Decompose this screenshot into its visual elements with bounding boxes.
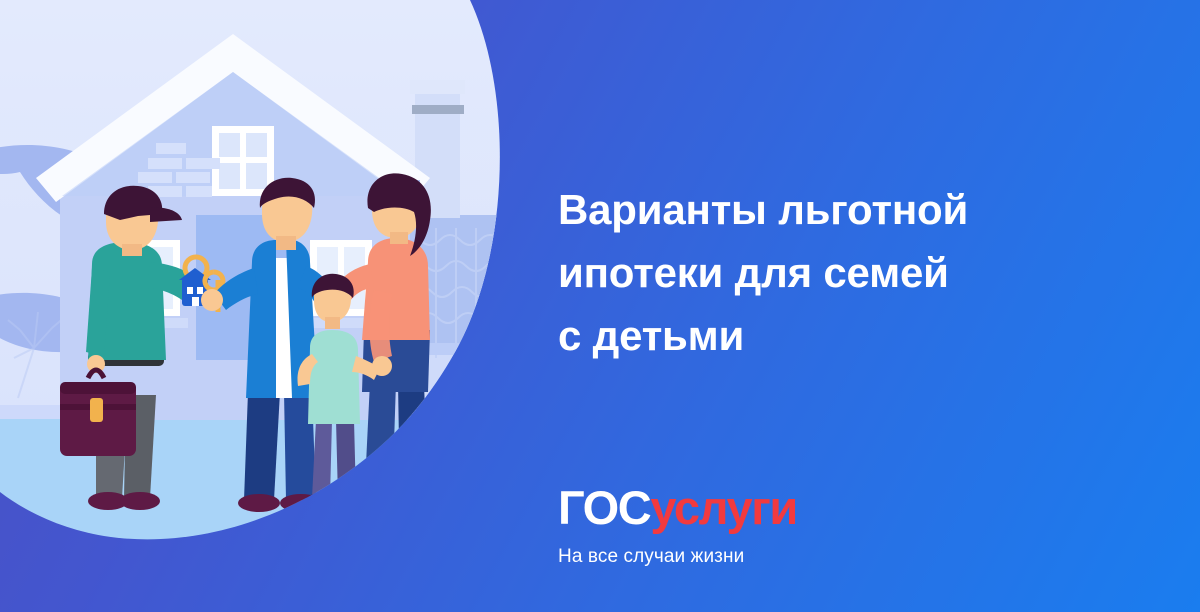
shoe [120,492,160,510]
briefcase-icon [60,370,136,456]
headline-line-3: с детьми [558,304,1078,367]
gosuslugi-logo: ГОСуслуги На все случаи жизни [558,483,1038,569]
logo-wordmark: ГОСуслуги [558,483,1038,533]
shoe [305,493,337,509]
hand [201,289,223,311]
shoe [238,494,280,512]
headline-line-2: ипотеки для семей [558,241,1078,304]
briefcase-clasp [90,398,103,422]
shoe [280,494,322,512]
headline-line-1: Варианты льготной [558,178,1078,241]
shoe [331,493,363,509]
shoe [357,499,399,517]
illustration-svg [0,0,530,612]
logo-tagline: На все случаи жизни [558,545,1038,569]
illustration-panel [0,0,530,612]
promo-banner: Варианты льготной ипотеки для семей с де… [0,0,1200,612]
logo-text-uslugi: услуги [650,481,797,534]
page-title: Варианты льготной ипотеки для семей с де… [558,178,1078,367]
shirt [308,330,360,424]
shoe [393,499,435,517]
logo-text-gos: ГОС [558,481,650,534]
attic-window-icon [212,126,274,196]
